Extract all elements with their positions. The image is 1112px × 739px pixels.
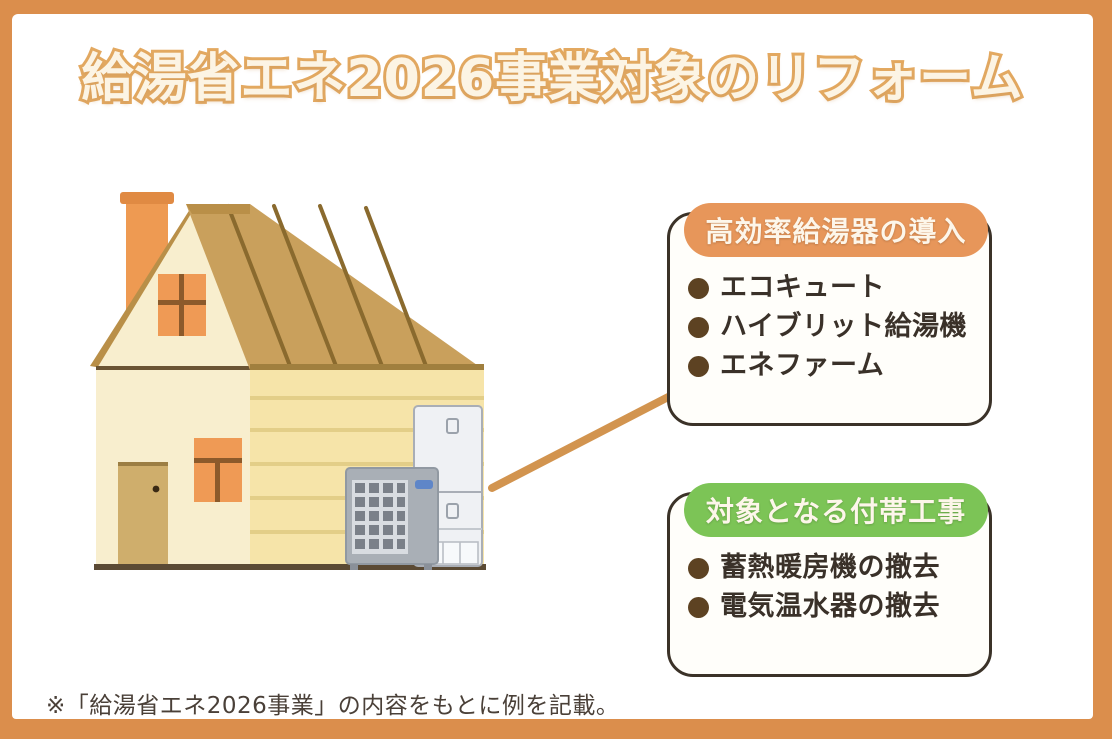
bullet-icon [688,558,709,579]
list-item-label: エネファーム [720,350,884,383]
bullet-icon [688,597,709,618]
list-item: エコキュート [688,272,979,305]
callout-header-box1: 高効率給湯器の導入 [684,203,988,257]
list-item-label: 電気温水器の撤去 [720,591,940,624]
callout-box-eligible-related-work: 対象となる付帯工事 蓄熱暖房機の撤去 電気温水器の撤去 [667,492,992,677]
list-item: 電気温水器の撤去 [688,591,979,624]
callout-header-box2: 対象となる付帯工事 [684,483,988,537]
list-item: ハイブリット給湯機 [688,311,979,344]
house-illustration [74,174,514,594]
page-title: 給湯省エネ2026事業対象のリフォーム [12,36,1093,111]
callout-box-high-efficiency-water-heater: 高効率給湯器の導入 エコキュート ハイブリット給湯機 エネファーム [667,212,992,426]
list-item: 蓄熱暖房機の撤去 [688,552,979,585]
bullet-icon [688,278,709,299]
poster-stage: 給湯省エネ2026事業対象のリフォーム [12,14,1093,719]
list-item-label: エコキュート [720,272,885,305]
list-item: エネファーム [688,350,979,383]
poster-frame: 給湯省エネ2026事業対象のリフォーム [12,14,1093,719]
bullet-icon [688,356,709,377]
bullet-icon [688,317,709,338]
footnote-text: ※「給湯省エネ2026事業」の内容をもとに例を記載。 [46,686,619,719]
list-item-label: 蓄熱暖房機の撤去 [720,552,940,585]
list-item-label: ハイブリット給湯機 [720,311,967,344]
callout-item-list-box2: 蓄熱暖房機の撤去 電気温水器の撤去 [688,547,979,630]
callout-item-list-box1: エコキュート ハイブリット給湯機 エネファーム [688,267,979,389]
